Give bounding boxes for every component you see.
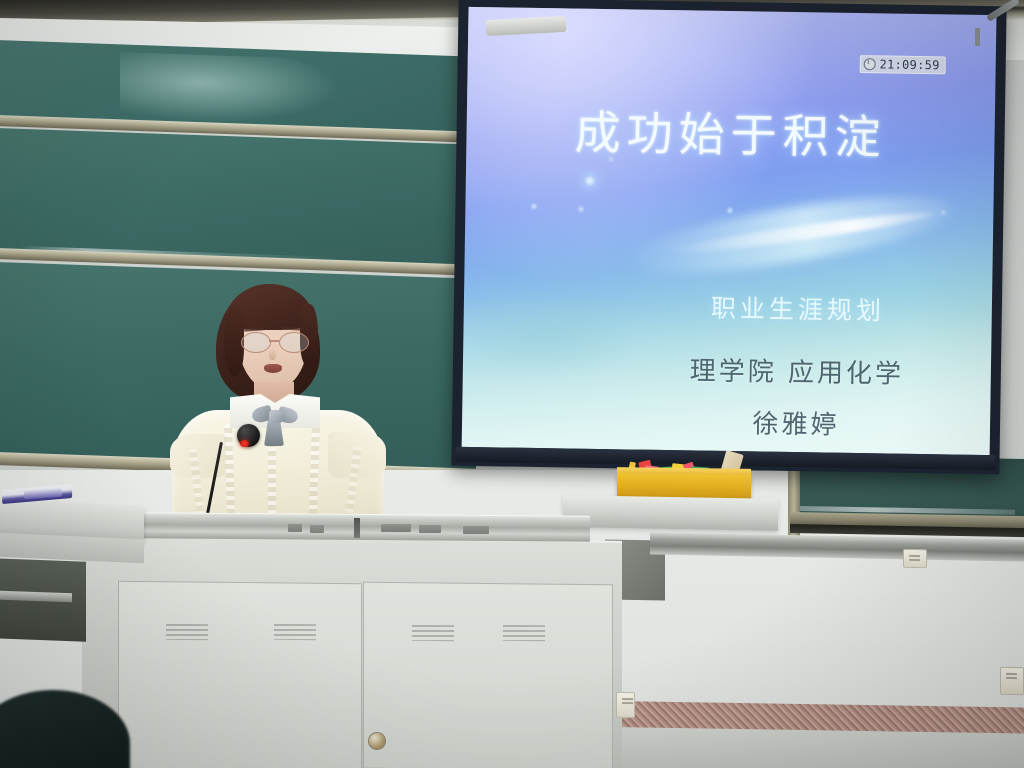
mouth <box>264 364 282 373</box>
rail-slot <box>310 525 324 533</box>
projection-screen: 成功始于积淀 职业生涯规划 理学院 应用化学 徐雅婷 21:09:59 <box>451 0 1006 474</box>
wall-power-outlet <box>616 692 635 718</box>
bow-tail <box>264 420 284 446</box>
podium-lock-icon[interactable] <box>368 732 386 750</box>
presenter <box>168 278 388 540</box>
slide-subtitle-presenter: 徐雅婷 <box>646 402 947 444</box>
microphone-led-icon <box>240 440 249 447</box>
podium-vent <box>166 624 208 640</box>
slide-sparkle-dot <box>586 177 594 185</box>
screen-timestamp-overlay: 21:09:59 <box>859 55 945 74</box>
classroom-photo-scene: 成功始于积淀 职业生涯规划 理学院 应用化学 徐雅婷 21:09:59 <box>0 0 1024 768</box>
slide-subtitle-department: 理学院 应用化学 <box>647 350 948 392</box>
rail-slot <box>381 524 411 532</box>
podium-door-left[interactable] <box>118 581 362 768</box>
timestamp-text: 21:09:59 <box>879 57 939 72</box>
rail-slot <box>288 524 302 532</box>
blackboard-panel-middle <box>0 128 476 267</box>
slide-sparkle-dot <box>727 208 732 213</box>
clock-icon <box>863 58 875 70</box>
ribbon-bow-tie <box>254 404 296 446</box>
podium-vent <box>412 625 454 641</box>
podium-vent <box>503 625 545 641</box>
bow-knot <box>269 410 283 423</box>
nose <box>269 348 276 360</box>
slide-sparkle-dot <box>531 204 536 209</box>
lens-left <box>241 332 271 353</box>
rail-divider <box>354 518 360 538</box>
podium-top-rail <box>140 512 590 542</box>
screen-mount-post <box>975 28 980 46</box>
rail-slot <box>419 525 441 533</box>
slide-sparkle-dot <box>941 210 945 214</box>
slide-sparkle-dot <box>578 207 583 212</box>
glasses-bridge <box>269 340 279 342</box>
wall-power-outlet <box>903 549 927 568</box>
slide-canvas: 成功始于积淀 职业生涯规划 理学院 应用化学 徐雅婷 21:09:59 <box>462 7 997 455</box>
slide-world-map-motif <box>473 290 654 388</box>
lens-right <box>279 332 309 353</box>
slide-title: 成功始于积淀 <box>466 95 995 169</box>
wall-power-outlet <box>1000 667 1024 695</box>
podium-door-right[interactable] <box>363 582 613 768</box>
rail-slot <box>463 526 489 534</box>
slide-subtitle-topic: 职业生涯规划 <box>648 288 949 329</box>
podium-vent <box>274 624 316 640</box>
podium-shelf-right <box>563 495 778 531</box>
